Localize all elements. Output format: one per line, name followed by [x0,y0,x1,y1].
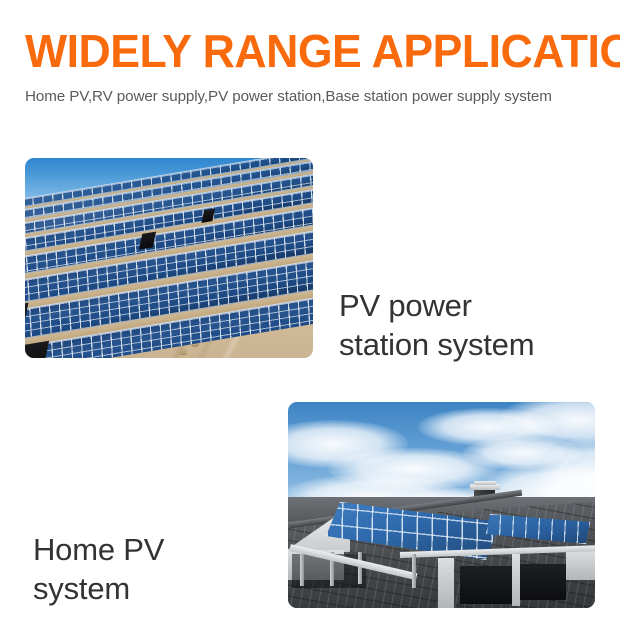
house-wall [512,554,520,606]
window-opening [460,566,512,604]
house-wall [566,550,595,580]
home-pv-image [288,402,595,608]
inverter-box [25,341,49,358]
window-opening [520,564,566,600]
downpipe [412,554,416,588]
pebble [180,350,187,354]
home-pv-caption: Home PV system [33,530,164,608]
pv-power-station-image [25,158,313,358]
page-title: WIDELY RANGE APPLICATION [25,26,620,76]
chimney-cap [474,481,496,485]
page-subtitle: Home PV,RV power supply,PV power station… [25,87,552,107]
house-wall [438,558,454,608]
pv-power-station-caption: PV power station system [339,286,534,364]
support-post [358,552,362,584]
support-post [300,552,304,586]
